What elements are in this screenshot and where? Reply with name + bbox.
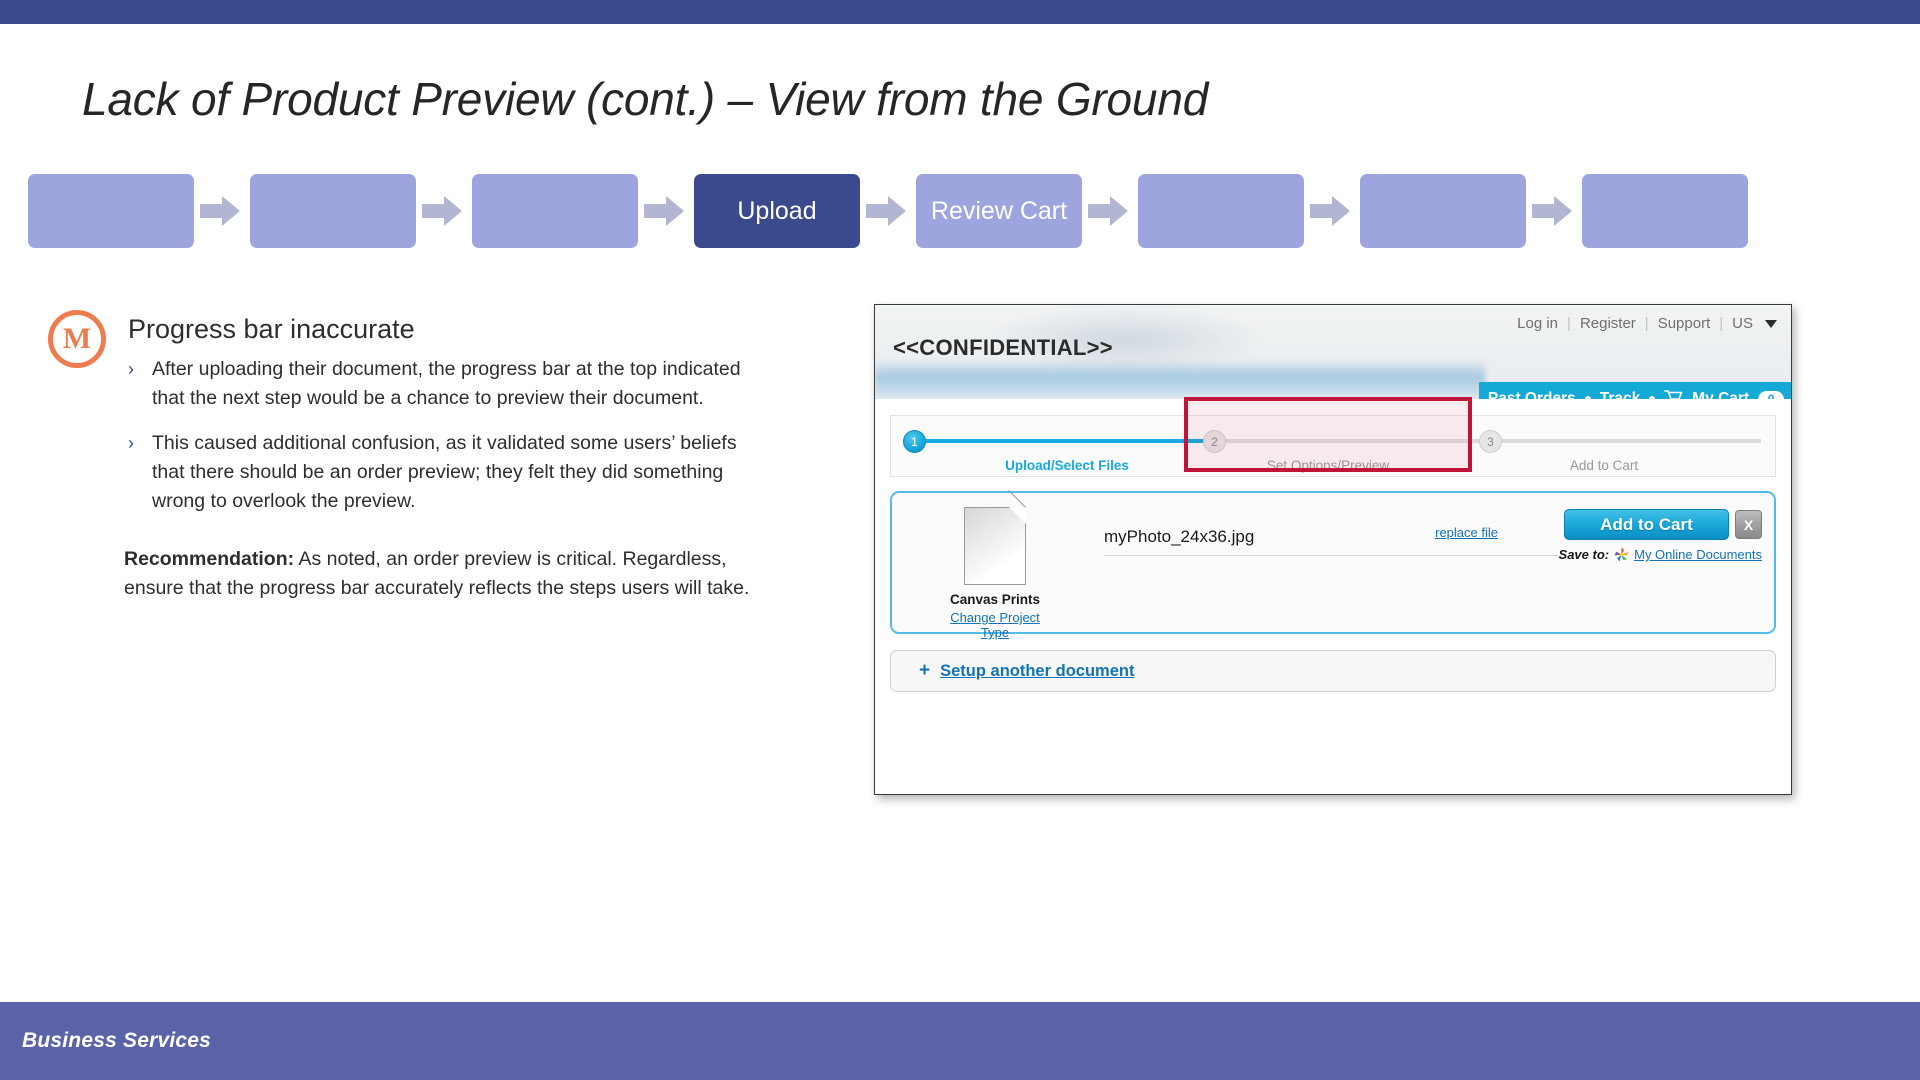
project-type-label: Canvas Prints	[942, 592, 1048, 607]
setup-another-document-row[interactable]: + Setup another document	[890, 650, 1776, 692]
progress-step-1-node[interactable]: 1	[903, 430, 926, 453]
locale-selector[interactable]: US	[1732, 315, 1753, 332]
page-fold-line	[1008, 490, 1026, 508]
setup-another-document-link[interactable]: Setup another document	[940, 662, 1134, 681]
file-name: myPhoto_24x36.jpg	[1104, 527, 1254, 547]
process-step-review-cart[interactable]: Review Cart	[916, 174, 1082, 248]
plus-icon: +	[919, 660, 930, 682]
uploaded-file-card: Canvas Prints Change Project Type myPhot…	[890, 491, 1776, 634]
file-thumbnail-group: Canvas Prints Change Project Type	[942, 507, 1048, 642]
process-step-review-cart-label: Review Cart	[931, 197, 1067, 226]
remove-file-button[interactable]: X	[1735, 510, 1762, 539]
page-fold-icon	[1009, 507, 1026, 524]
process-step-7[interactable]	[1360, 174, 1526, 248]
progress-step-2-node[interactable]: 2	[1203, 430, 1226, 453]
recommendation-label: Recommendation:	[124, 548, 294, 570]
process-step-8[interactable]	[1582, 174, 1748, 248]
change-project-type-link[interactable]: Change Project Type	[942, 610, 1048, 640]
progress-step-3-node[interactable]: 3	[1479, 430, 1502, 453]
file-name-underline	[1104, 555, 1558, 556]
list-item: › This caused additional confusion, as i…	[128, 429, 748, 516]
process-flow: Upload Review Cart	[28, 168, 1868, 254]
progress-track-completed	[909, 439, 1216, 443]
list-item: › After uploading their document, the pr…	[128, 355, 748, 413]
process-arrow-icon	[1304, 174, 1360, 248]
process-arrow-icon	[1526, 174, 1582, 248]
footer-label: Business Services	[22, 1029, 211, 1053]
progress-step-3-number: 3	[1487, 435, 1494, 449]
slide: Lack of Product Preview (cont.) – View f…	[0, 0, 1920, 1080]
process-arrow-icon	[1082, 174, 1138, 248]
login-link[interactable]: Log in	[1517, 315, 1558, 332]
register-link[interactable]: Register	[1580, 315, 1636, 332]
mock-body: 1 Upload/Select Files 2 Set Options/Prev…	[875, 399, 1791, 795]
pinwheel-icon	[1614, 547, 1629, 562]
bullet-text: This caused additional confusion, as it …	[152, 429, 748, 516]
save-to-row: Save to: My Online Documents	[1559, 547, 1762, 562]
process-step-6[interactable]	[1138, 174, 1304, 248]
process-arrow-icon	[860, 174, 916, 248]
process-step-2[interactable]	[250, 174, 416, 248]
nav-separator: |	[1719, 315, 1723, 332]
document-icon	[964, 507, 1026, 585]
medium-severity-letter: M	[63, 322, 91, 356]
process-step-3[interactable]	[472, 174, 638, 248]
chevron-right-icon: ›	[128, 429, 152, 516]
support-link[interactable]: Support	[1658, 315, 1711, 332]
recommendation-block: Recommendation: As noted, an order previ…	[124, 545, 764, 603]
process-step-upload[interactable]: Upload	[694, 174, 860, 248]
chevron-right-icon: ›	[128, 355, 152, 413]
medium-severity-icon: M	[48, 310, 106, 368]
mock-top-utility-nav: Log in | Register | Support | US	[1517, 315, 1777, 332]
bottom-accent-band: Business Services	[0, 1002, 1920, 1080]
process-arrow-icon	[638, 174, 694, 248]
save-to-label: Save to:	[1559, 547, 1610, 562]
finding-bullet-list: › After uploading their document, the pr…	[128, 355, 748, 532]
confidential-watermark: <<CONFIDENTIAL>>	[893, 335, 1113, 361]
progress-step-2-number: 2	[1211, 435, 1218, 449]
progress-step-1-number: 1	[911, 435, 918, 449]
progress-step-3-label: Add to Cart	[1570, 458, 1638, 473]
progress-step-2-label: Set Options/Preview	[1267, 458, 1389, 473]
mock-header: <<CONFIDENTIAL>> Log in | Register | Sup…	[875, 305, 1791, 399]
process-step-1[interactable]	[28, 174, 194, 248]
process-step-upload-label: Upload	[737, 197, 816, 226]
checkout-progress-bar: 1 Upload/Select Files 2 Set Options/Prev…	[890, 415, 1776, 477]
process-arrow-icon	[194, 174, 250, 248]
add-to-cart-button[interactable]: Add to Cart	[1564, 509, 1729, 540]
replace-file-link[interactable]: replace file	[1435, 525, 1498, 540]
my-online-documents-link[interactable]: My Online Documents	[1634, 547, 1762, 562]
nav-separator: |	[1645, 315, 1649, 332]
product-screenshot-mock: <<CONFIDENTIAL>> Log in | Register | Sup…	[874, 304, 1792, 795]
chevron-down-icon[interactable]	[1765, 320, 1777, 328]
progress-step-1-label: Upload/Select Files	[1005, 458, 1129, 473]
nav-separator: |	[1567, 315, 1571, 332]
process-arrow-icon	[416, 174, 472, 248]
finding-heading: Progress bar inaccurate	[128, 314, 415, 345]
top-accent-band	[0, 0, 1920, 24]
page-title: Lack of Product Preview (cont.) – View f…	[82, 72, 1208, 126]
bullet-text: After uploading their document, the prog…	[152, 355, 748, 413]
file-actions: Add to Cart X Save to:	[1559, 509, 1762, 562]
